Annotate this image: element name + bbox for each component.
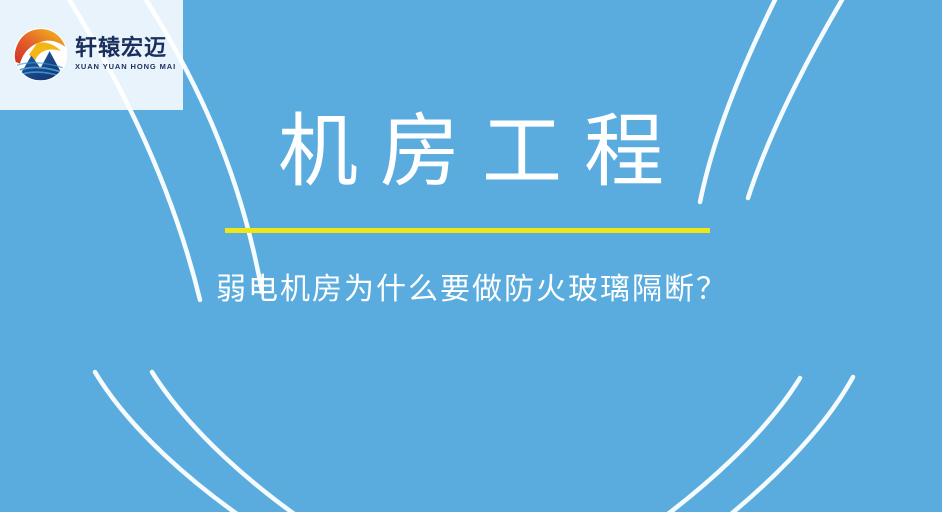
logo-lockup: 轩辕宏迈 XUAN YUAN HONG MAI xyxy=(12,26,176,83)
poster-canvas: 轩辕宏迈 XUAN YUAN HONG MAI 机房工程 弱电机房为什么要做防火… xyxy=(0,0,942,512)
page-subtitle: 弱电机房为什么要做防火玻璃隔断？ xyxy=(0,270,942,310)
headline-block: 机房工程 xyxy=(0,104,942,200)
xuanyuan-hongmai-emblem-icon xyxy=(12,26,69,83)
logo-pinyin-name: XUAN YUAN HONG MAI xyxy=(75,62,176,72)
logo-chinese-name: 轩辕宏迈 xyxy=(75,37,176,60)
arc-bottom-right-inner xyxy=(626,378,800,512)
logo-watermark-panel: 轩辕宏迈 XUAN YUAN HONG MAI xyxy=(0,0,183,110)
page-title: 机房工程 xyxy=(0,104,942,200)
arc-bottom-left-outer xyxy=(152,372,336,512)
title-divider xyxy=(225,228,710,233)
logo-wordmark: 轩辕宏迈 XUAN YUAN HONG MAI xyxy=(75,37,176,72)
arc-bottom-left-inner xyxy=(95,372,276,512)
arc-bottom-right-outer xyxy=(690,377,853,512)
